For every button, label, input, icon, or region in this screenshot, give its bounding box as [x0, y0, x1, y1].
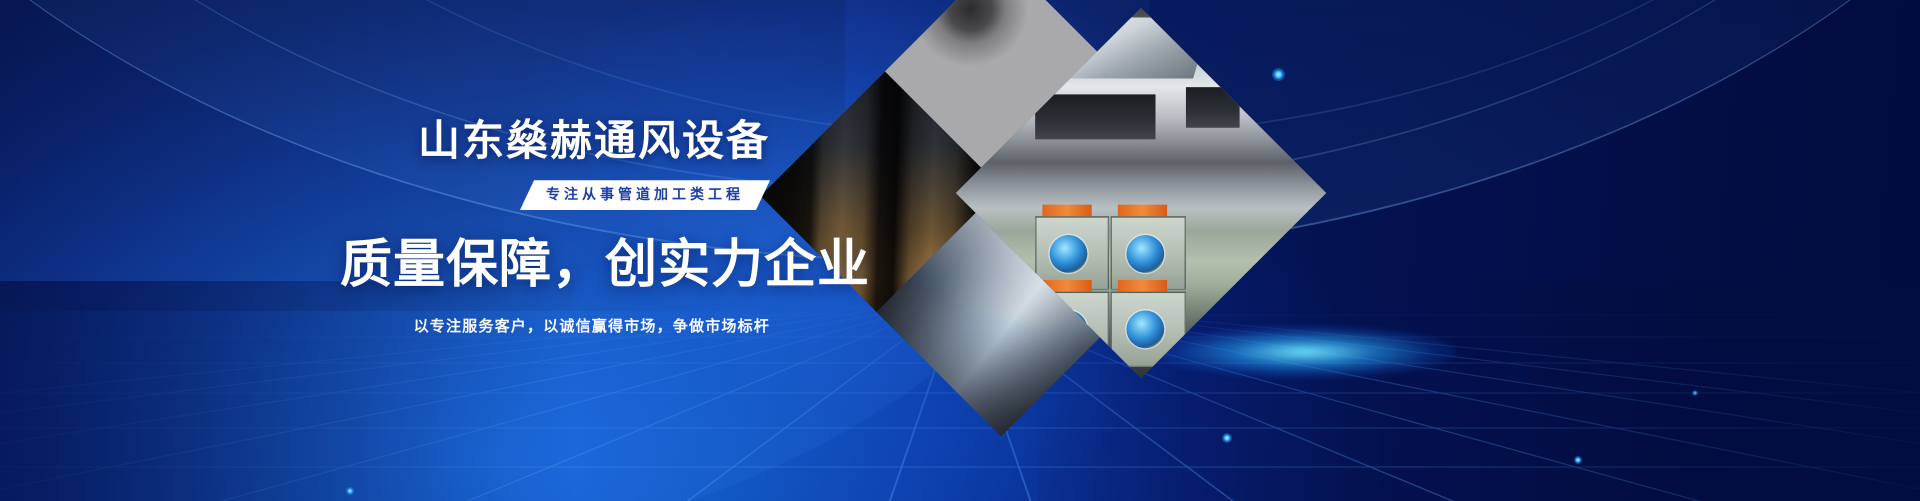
hero-text-block: 山东燊赫通风设备 专注从事管道加工类工程 质量保障，创实力企业 以专注服务客户，…: [340, 118, 770, 337]
subline: 以专注服务客户，以诚信赢得市场，争做市场标杆: [340, 316, 770, 337]
headline: 质量保障，创实力企业: [340, 236, 770, 294]
tagline-badge-row: 专注从事管道加工类工程: [340, 180, 770, 210]
tagline-badge: 专注从事管道加工类工程: [520, 180, 770, 210]
hero-banner: 山东燊赫通风设备 专注从事管道加工类工程 质量保障，创实力企业 以专注服务客户，…: [0, 0, 1920, 501]
company-name: 山东燊赫通风设备: [340, 118, 770, 164]
diamond-photo-collage: [795, 12, 1315, 492]
